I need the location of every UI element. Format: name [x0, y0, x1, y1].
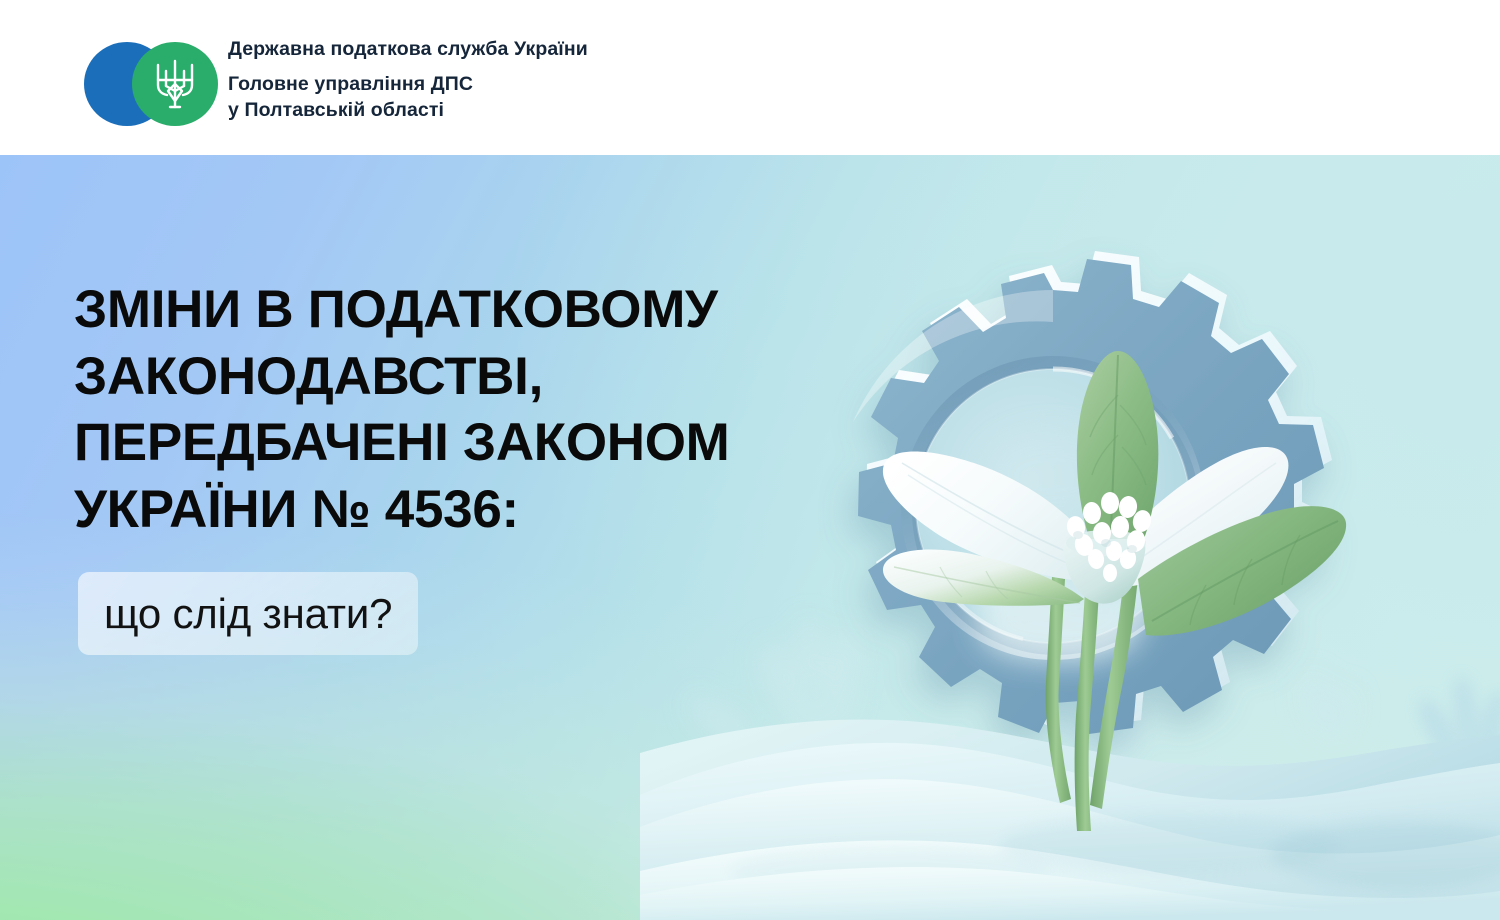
subtitle-text: що слід знати? [104, 593, 392, 635]
hero-background: ЗМІНИ В ПОДАТКОВОМУ ЗАКОНОДАВСТВІ, ПЕРЕД… [0, 155, 1500, 920]
org-name-block: Державна податкова служба України Головн… [228, 40, 588, 124]
headline-line-3: ПЕРЕДБАЧЕНІ ЗАКОНОМ [74, 410, 854, 477]
poster-root: ЗМІНИ В ПОДАТКОВОМУ ЗАКОНОДАВСТВІ, ПЕРЕД… [0, 0, 1500, 920]
headline-line-2: ЗАКОНОДАВСТВІ, [74, 344, 854, 411]
subtitle-badge: що слід знати? [78, 572, 418, 655]
hero-headline: ЗМІНИ В ПОДАТКОВОМУ ЗАКОНОДАВСТВІ, ПЕРЕД… [74, 277, 854, 543]
site-header: Державна податкова служба України Головн… [0, 0, 1500, 155]
org-name-line-1: Державна податкова служба України [228, 40, 588, 60]
org-name-line-3: у Полтавській області [228, 97, 588, 124]
headline-line-4: УКРАЇНИ № 4536: [74, 477, 854, 544]
org-name-line-2: Головне управління ДПС [228, 71, 588, 98]
dps-logo [84, 42, 218, 126]
ukraine-trident-icon [152, 58, 198, 110]
headline-line-1: ЗМІНИ В ПОДАТКОВОМУ [74, 277, 854, 344]
